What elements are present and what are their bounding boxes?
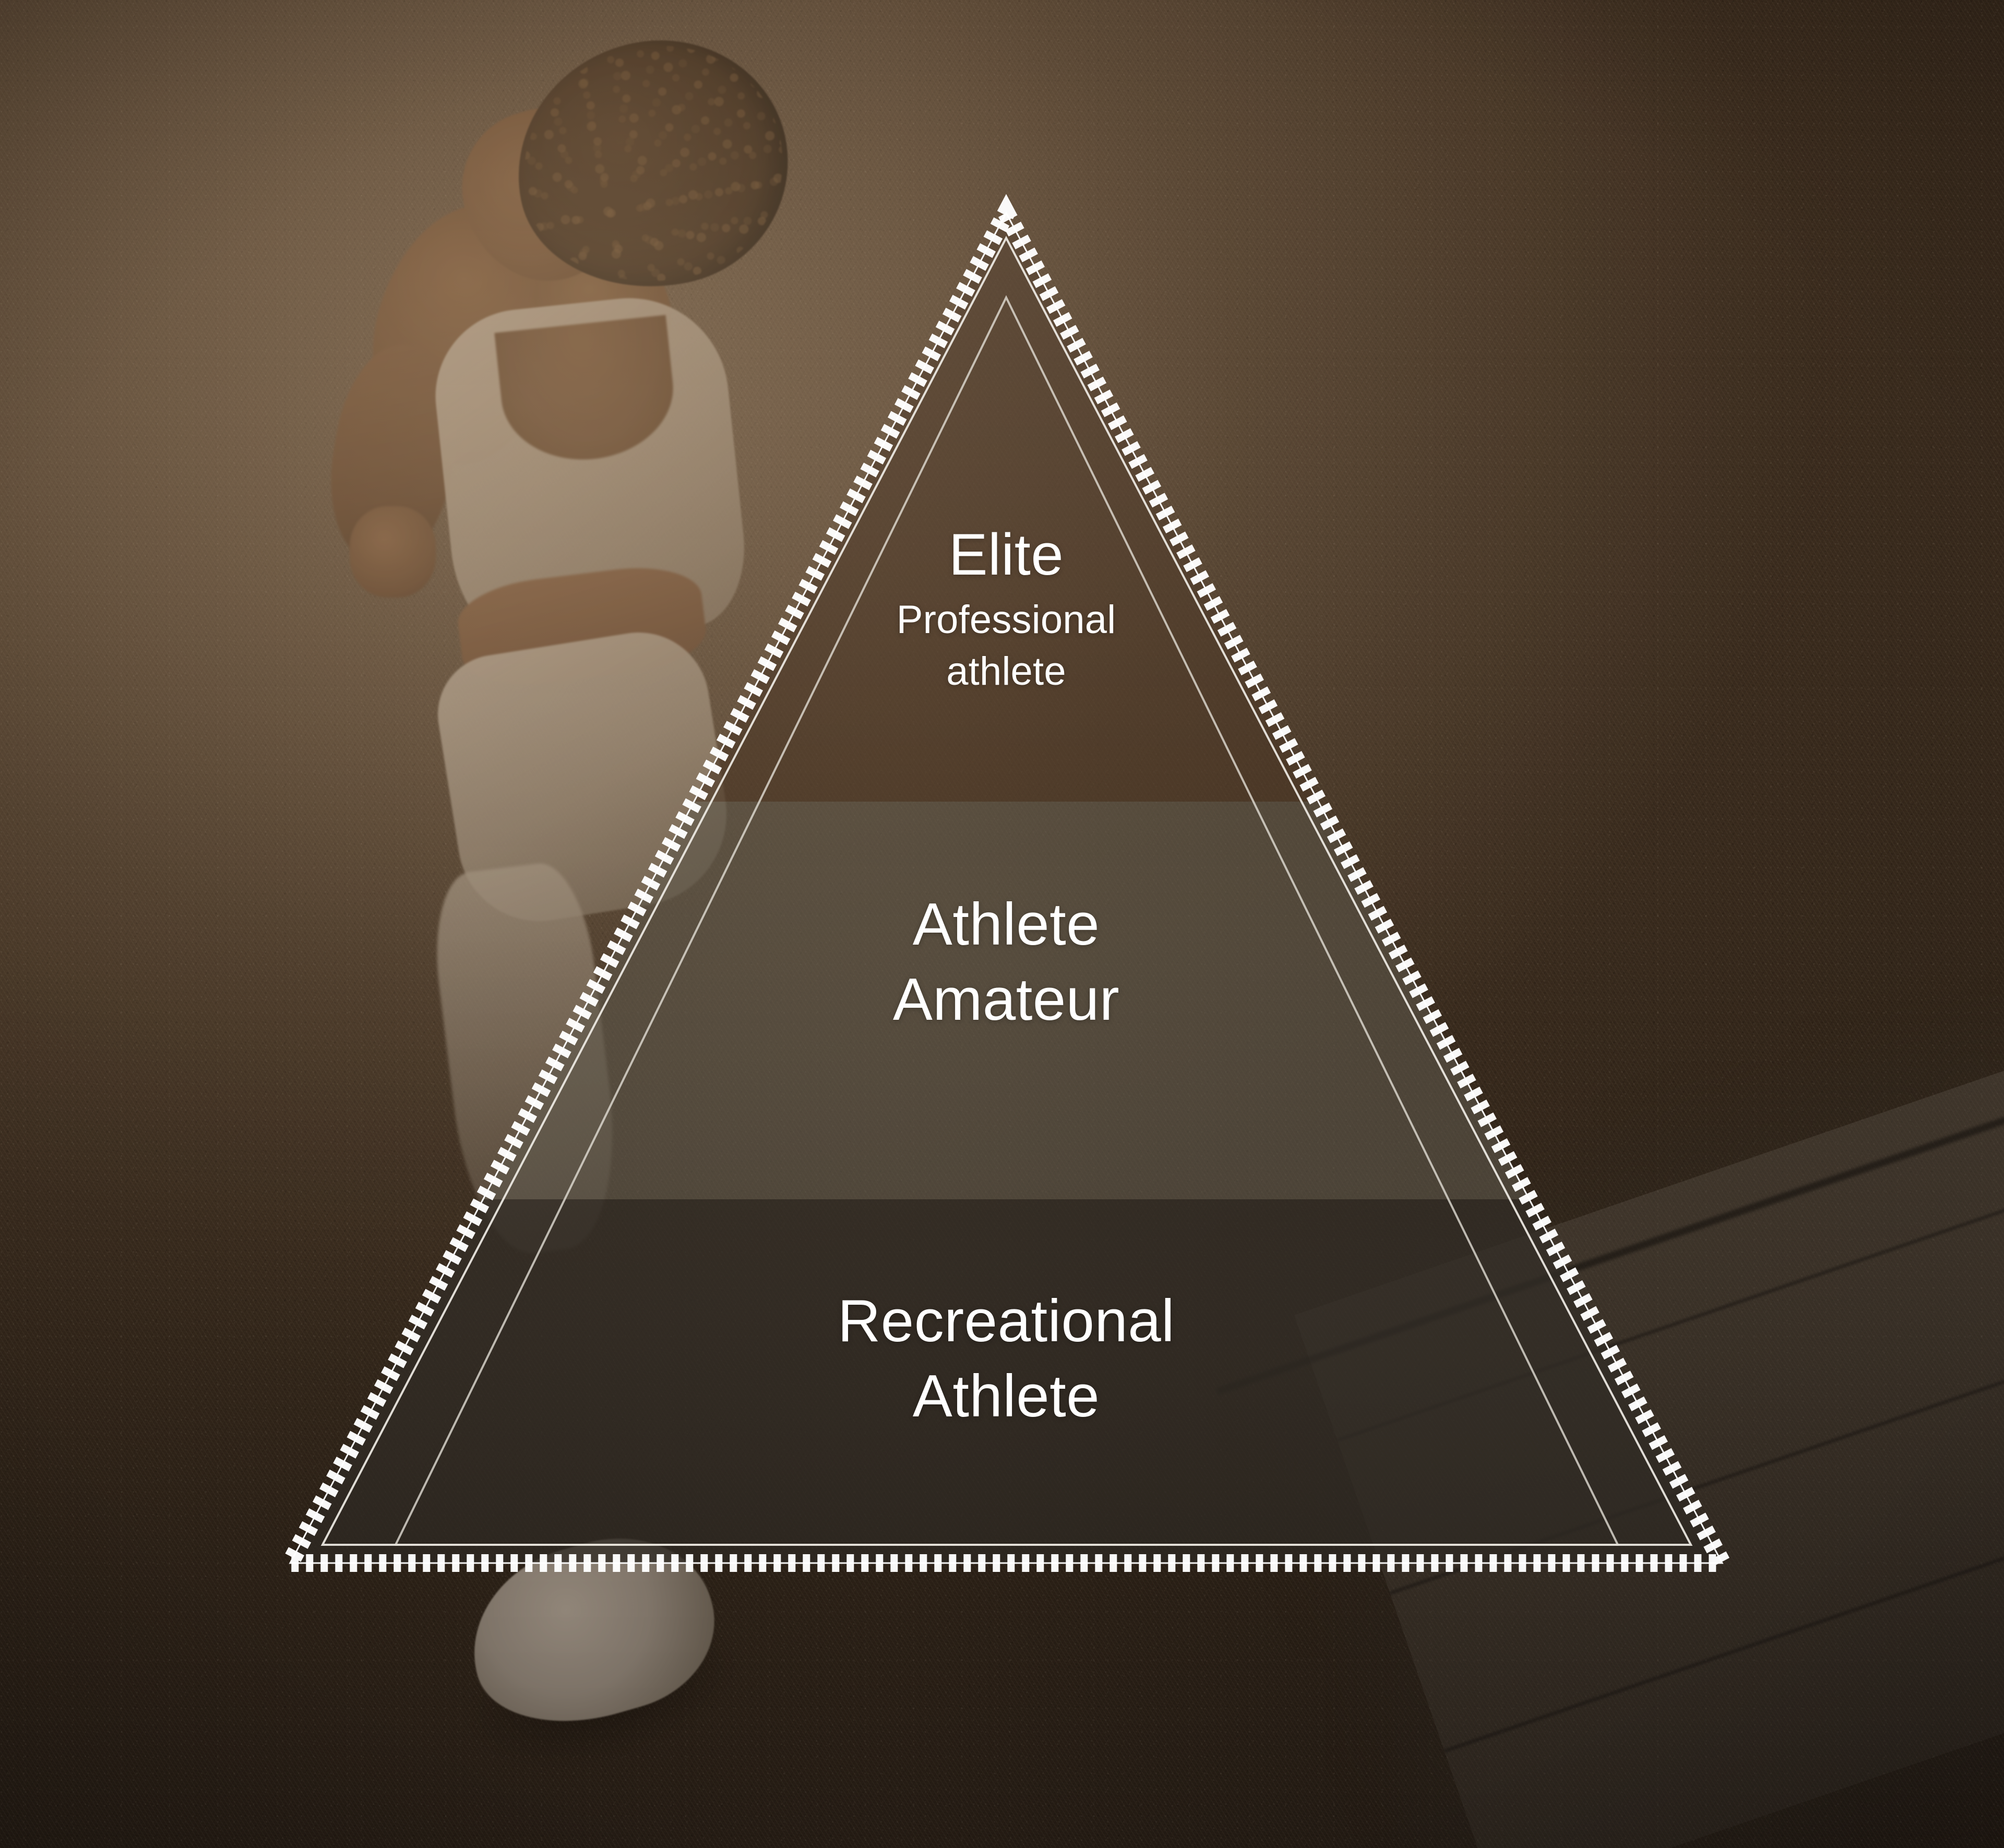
pyramid-infographic: Elite Professional athlete Athlete Amate… — [0, 0, 2004, 1848]
pyramid-shape — [261, 188, 1748, 1597]
